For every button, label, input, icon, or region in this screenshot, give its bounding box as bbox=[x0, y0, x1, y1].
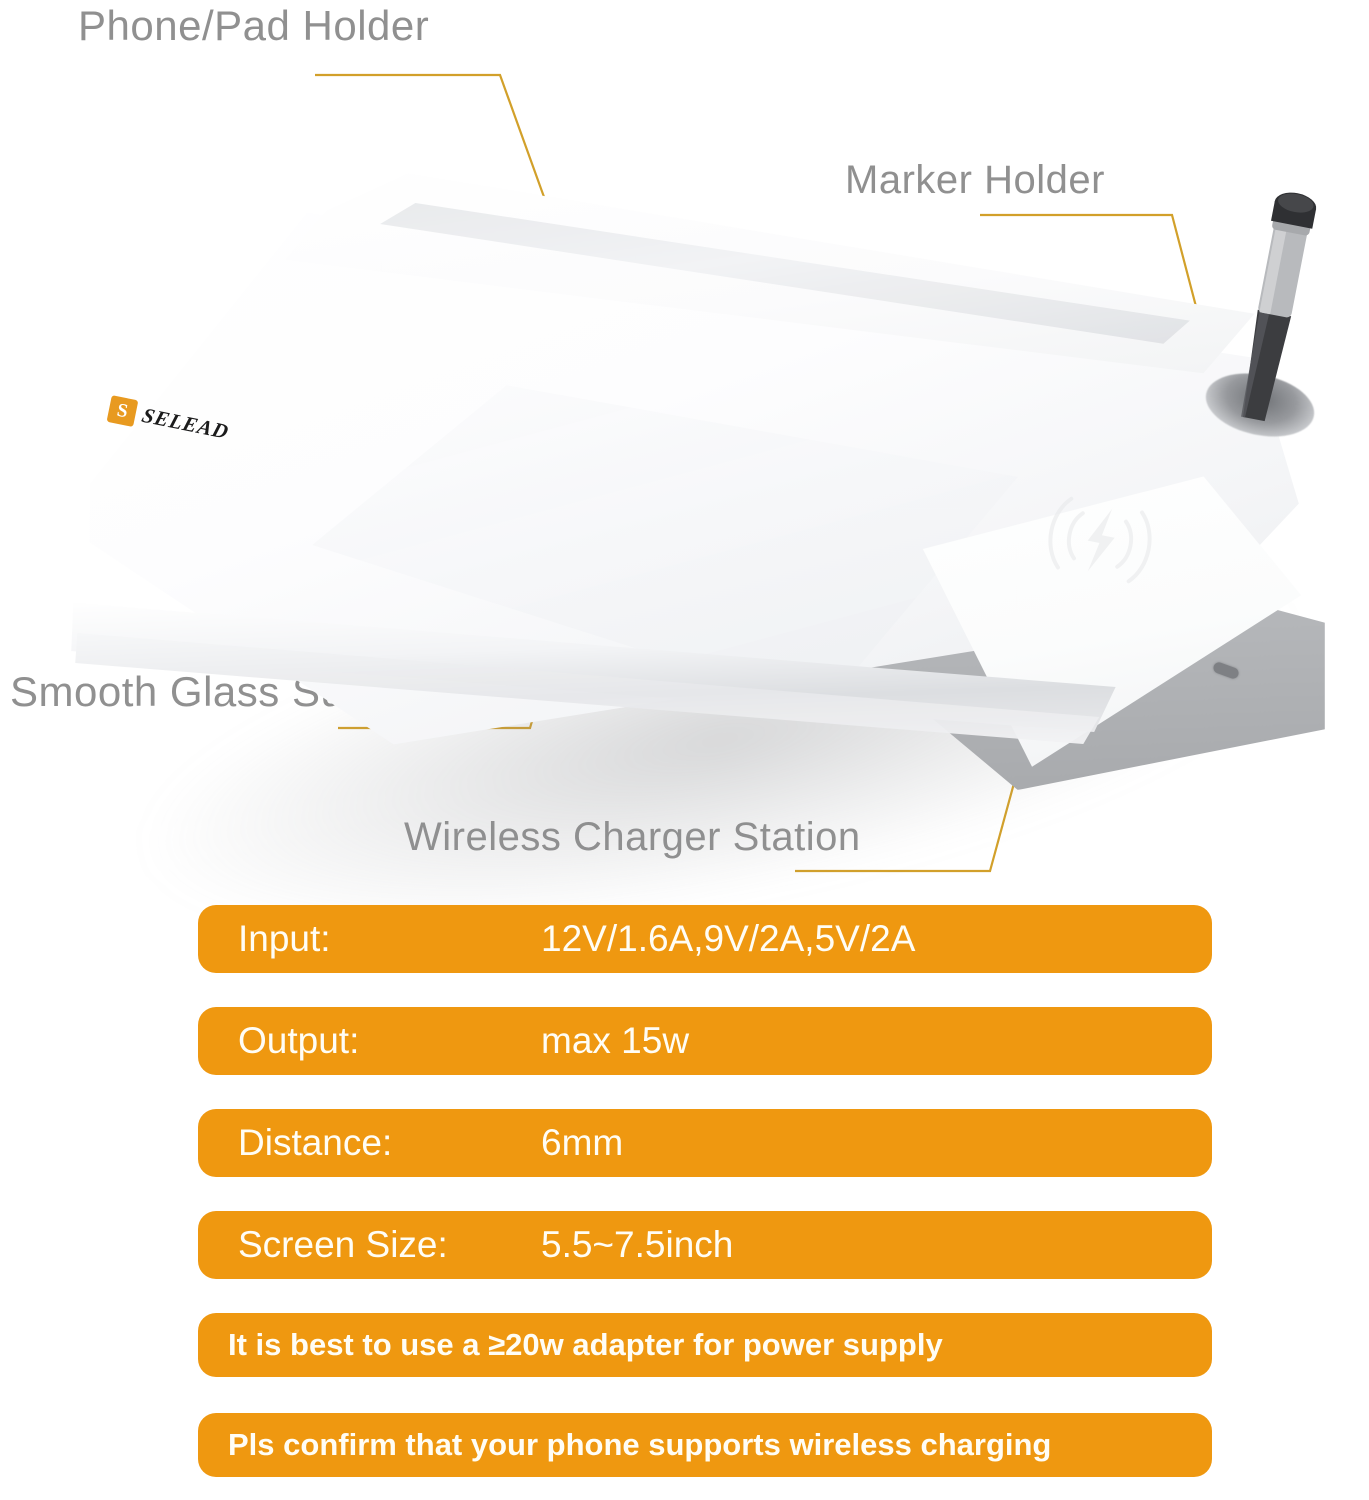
spec-note-adapter: It is best to use a ≥20w adapter for pow… bbox=[198, 1313, 1212, 1377]
spec-key-screen-size: Screen Size: bbox=[238, 1224, 448, 1266]
spec-row-distance: Distance: 6mm bbox=[198, 1109, 1212, 1177]
spec-row-input: Input: 12V/1.6A,9V/2A,5V/2A bbox=[198, 905, 1212, 973]
product-infographic: Phone/Pad Holder Marker Holder Smooth Gl… bbox=[0, 0, 1369, 1500]
spec-key-distance: Distance: bbox=[238, 1122, 392, 1164]
spec-value-output: max 15w bbox=[541, 1020, 689, 1062]
spec-key-output: Output: bbox=[238, 1020, 359, 1062]
brand-mark-icon: S bbox=[107, 395, 139, 427]
spec-value-input: 12V/1.6A,9V/2A,5V/2A bbox=[541, 918, 915, 960]
spec-row-screen-size: Screen Size: 5.5~7.5inch bbox=[198, 1211, 1212, 1279]
spec-value-distance: 6mm bbox=[541, 1122, 623, 1164]
spec-key-input: Input: bbox=[238, 918, 331, 960]
callout-label-phone-pad: Phone/Pad Holder bbox=[78, 2, 429, 50]
dry-erase-marker bbox=[1215, 183, 1335, 428]
spec-note-wireless-support: Pls confirm that your phone supports wir… bbox=[198, 1413, 1212, 1477]
spec-value-screen-size: 5.5~7.5inch bbox=[541, 1224, 733, 1266]
product-image-wireless-charging-desk-organizer bbox=[55, 160, 1345, 800]
spec-row-output: Output: max 15w bbox=[198, 1007, 1212, 1075]
